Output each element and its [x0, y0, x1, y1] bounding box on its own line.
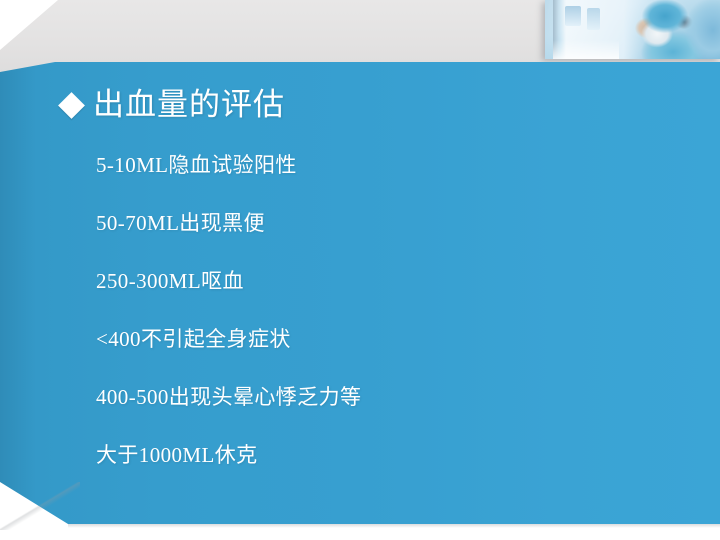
xray-film-right	[587, 8, 600, 30]
panel-corner-shadow	[0, 482, 80, 530]
page-title: 出血量的评估	[93, 88, 285, 122]
header-image	[545, 0, 720, 59]
list-item: 400-500出现头晕心悸乏力等	[96, 384, 656, 410]
list-item: 大于1000ML休克	[96, 442, 656, 468]
slide-title: 出血量的评估	[62, 88, 285, 122]
lightbox-glow	[553, 40, 619, 59]
list-item: 5-10ML隐血试验阳性	[96, 152, 656, 178]
operating-room-photo	[545, 0, 720, 59]
content-list: 5-10ML隐血试验阳性 50-70ML出现黑便 250-300ML呕血 <40…	[96, 152, 656, 468]
xray-film-left	[565, 6, 581, 26]
list-item: 250-300ML呕血	[96, 268, 656, 294]
presentation-slide: 出血量的评估 5-10ML隐血试验阳性 50-70ML出现黑便 250-300M…	[0, 0, 720, 540]
diamond-bullet-icon	[58, 92, 85, 119]
panel-bottom-shadow	[68, 524, 720, 528]
list-item: 50-70ML出现黑便	[96, 210, 656, 236]
list-item: <400不引起全身症状	[96, 326, 656, 352]
